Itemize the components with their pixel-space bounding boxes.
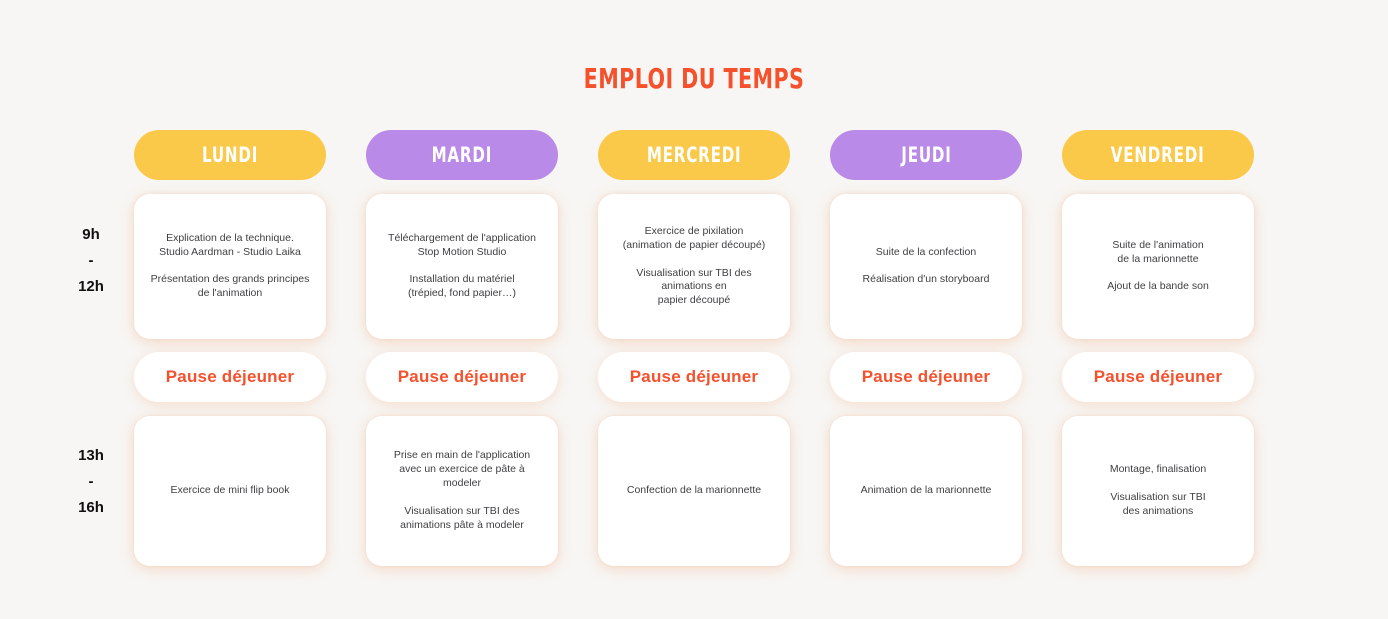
cell-mardi-lunch: Pause déjeuner [366,352,558,402]
session-card[interactable]: Explication de la technique. Studio Aard… [134,194,326,339]
session-text: Exercice de mini flip book [170,484,289,498]
day-header-label: Mardi [432,143,493,167]
lunch-label: Pause déjeuner [862,367,990,387]
cell-jeudi-afternoon: Animation de la marionnette [830,402,1022,566]
session-card[interactable]: Suite de l'animation de la marionnette A… [1062,194,1254,339]
day-header-label: Vendredi [1111,143,1205,167]
lunch-pill[interactable]: Pause déjeuner [366,352,558,402]
session-card[interactable]: Exercice de pixilation (animation de pap… [598,194,790,339]
session-card[interactable]: Montage, finalisation Visualisation sur … [1062,416,1254,566]
lunch-pill[interactable]: Pause déjeuner [830,352,1022,402]
cell-vendredi-lunch: Pause déjeuner [1062,352,1254,402]
column-jeudi: Jeudi [830,130,1022,180]
day-header-label: Lundi [202,143,258,167]
session-card[interactable]: Suite de la confection Réalisation d'un … [830,194,1022,339]
column-mercredi: Mercredi [598,130,790,180]
lunch-pill[interactable]: Pause déjeuner [1062,352,1254,402]
lunch-pill[interactable]: Pause déjeuner [598,352,790,402]
afternoon-session-row: Exercice de mini flip book Prise en main… [134,402,1256,566]
session-card[interactable]: Exercice de mini flip book [134,416,326,566]
session-text: Exercice de pixilation (animation de pap… [623,225,765,309]
lunch-label: Pause déjeuner [1094,367,1222,387]
cell-vendredi-afternoon: Montage, finalisation Visualisation sur … [1062,402,1254,566]
day-header-lundi[interactable]: Lundi [134,130,326,180]
day-header-mardi[interactable]: Mardi [366,130,558,180]
cell-jeudi-morning: Suite de la confection Réalisation d'un … [830,180,1022,339]
session-text: Prise en main de l'application avec un e… [394,449,530,533]
cell-lundi-morning: Explication de la technique. Studio Aard… [134,180,326,339]
page-title: Emploi du temps [125,62,1263,95]
session-text: Montage, finalisation Visualisation sur … [1110,463,1206,519]
session-card[interactable]: Prise en main de l'application avec un e… [366,416,558,566]
day-header-row: Lundi Mardi Mercredi Jeudi Vendr [134,130,1256,180]
session-text: Téléchargement de l'application Stop Mot… [388,232,536,302]
cell-mercredi-afternoon: Confection de la marionnette [598,402,790,566]
lunch-label: Pause déjeuner [630,367,758,387]
session-text: Animation de la marionnette [861,484,992,498]
column-vendredi: Vendredi [1062,130,1254,180]
time-label-afternoon: 13h - 16h [46,443,136,520]
cell-mercredi-morning: Exercice de pixilation (animation de pap… [598,180,790,339]
timetable-page: Emploi du temps 9h - 12h 13h - 16h Lundi… [0,0,1388,619]
cell-mardi-morning: Téléchargement de l'application Stop Mot… [366,180,558,339]
day-header-jeudi[interactable]: Jeudi [830,130,1022,180]
lunch-pill[interactable]: Pause déjeuner [134,352,326,402]
day-header-vendredi[interactable]: Vendredi [1062,130,1254,180]
cell-lundi-afternoon: Exercice de mini flip book [134,402,326,566]
day-header-label: Jeudi [901,143,951,167]
morning-session-row: Explication de la technique. Studio Aard… [134,180,1256,339]
session-text: Confection de la marionnette [627,484,761,498]
cell-mercredi-lunch: Pause déjeuner [598,352,790,402]
cell-jeudi-lunch: Pause déjeuner [830,352,1022,402]
session-card[interactable]: Téléchargement de l'application Stop Mot… [366,194,558,339]
lunch-row: Pause déjeuner Pause déjeuner Pause déje… [134,352,1256,402]
session-text: Suite de la confection Réalisation d'un … [863,246,990,288]
day-header-mercredi[interactable]: Mercredi [598,130,790,180]
cell-vendredi-morning: Suite de l'animation de la marionnette A… [1062,180,1254,339]
cell-lundi-lunch: Pause déjeuner [134,352,326,402]
session-text: Suite de l'animation de la marionnette A… [1107,239,1209,295]
cell-mardi-afternoon: Prise en main de l'application avec un e… [366,402,558,566]
day-header-label: Mercredi [647,143,742,167]
lunch-label: Pause déjeuner [398,367,526,387]
session-card[interactable]: Confection de la marionnette [598,416,790,566]
time-label-morning: 9h - 12h [46,222,136,299]
column-lundi: Lundi [134,130,326,180]
session-card[interactable]: Animation de la marionnette [830,416,1022,566]
column-mardi: Mardi [366,130,558,180]
lunch-label: Pause déjeuner [166,367,294,387]
timetable-grid: Lundi Mardi Mercredi Jeudi Vendr [134,130,1256,566]
session-text: Explication de la technique. Studio Aard… [151,232,310,302]
